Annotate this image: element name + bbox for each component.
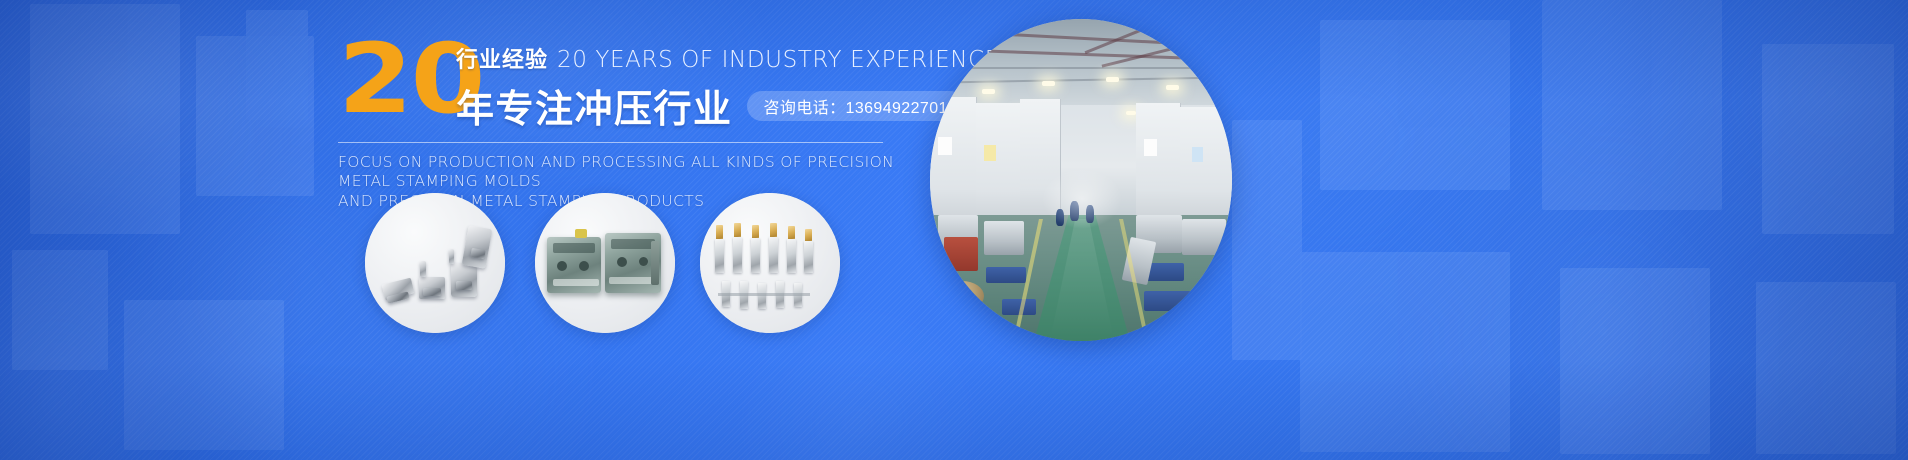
headline-text-group: 行业经验 20 YEARS OF INDUSTRY EXPERIENCE 年专注…: [456, 42, 1000, 133]
product-circle-stamping-mold: [535, 193, 675, 333]
cn-tagline-big: 年专注冲压行业: [456, 78, 733, 133]
tagline-line-2: 年专注冲压行业 咨询电话：13694922701: [456, 78, 1000, 133]
headline-divider: [338, 142, 883, 143]
cn-tagline-small: 行业经验: [456, 42, 548, 74]
product-circle-connectors: [365, 193, 505, 333]
promo-banner: 20 行业经验 20 YEARS OF INDUSTRY EXPERIENCE …: [0, 0, 1908, 460]
headline-row: 20 行业经验 20 YEARS OF INDUSTRY EXPERIENCE …: [338, 40, 898, 120]
tagline-line-1: 行业经验 20 YEARS OF INDUSTRY EXPERIENCE: [456, 42, 1000, 74]
subheadline-line-1: FOCUS ON PRODUCTION AND PROCESSING ALL K…: [338, 153, 898, 191]
factory-workshop-photo: [930, 19, 1232, 341]
product-circle-terminal-pins: [700, 193, 840, 333]
headline-block: 20 行业经验 20 YEARS OF INDUSTRY EXPERIENCE …: [338, 40, 898, 211]
